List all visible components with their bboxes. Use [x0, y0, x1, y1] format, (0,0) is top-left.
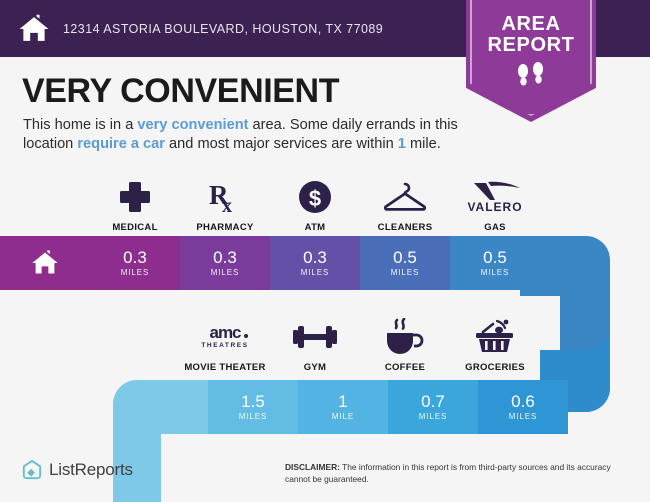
- distance-value: 0.7: [421, 393, 445, 410]
- amenity-label: ATM: [305, 222, 326, 233]
- distance-cell-movie-theater: 1.5 MILES: [208, 380, 298, 434]
- amenity-cleaners: CLEANERS: [360, 176, 450, 233]
- amenity-pharmacy: R x PHARMACY: [180, 176, 270, 233]
- distance-unit: MILES: [301, 268, 330, 277]
- amenity-icon-row-1: MEDICAL R x PHARMACY $ ATM: [90, 176, 540, 233]
- distance-unit: MILES: [481, 268, 510, 277]
- valero-logo-icon: VALERO: [464, 176, 526, 218]
- dollar-circle-icon: $: [297, 176, 333, 218]
- badge-title-line2: REPORT: [466, 35, 596, 56]
- distance-cell-atm: 0.3 MILES: [270, 236, 360, 290]
- distance-value: 0.3: [213, 249, 237, 266]
- home-marker-cell: [0, 236, 90, 290]
- distance-cell-medical: 0.3 MILES: [90, 236, 180, 290]
- distance-unit: MILES: [239, 412, 268, 421]
- svg-text:x: x: [222, 195, 232, 215]
- summary-part-4: mile.: [406, 136, 441, 152]
- disclaimer: DISCLAIMER: The information in this repo…: [285, 462, 637, 485]
- distance-unit: MILE: [332, 412, 354, 421]
- amenity-medical: MEDICAL: [90, 176, 180, 233]
- amenity-label: CLEANERS: [378, 222, 433, 233]
- distance-value: 0.5: [483, 249, 507, 266]
- distance-value: 0.3: [303, 249, 327, 266]
- house-icon: [17, 12, 51, 46]
- summary-text: This home is in a very convenient area. …: [23, 116, 463, 154]
- listreports-logo-text: ListReports: [49, 460, 133, 480]
- svg-text:$: $: [309, 186, 321, 211]
- rx-icon: R x: [207, 176, 243, 218]
- page-title: VERY CONVENIENT: [22, 72, 339, 111]
- summary-part-3: and most major services are within: [165, 136, 398, 152]
- distance-value: 1: [338, 393, 347, 410]
- amenity-gas: VALERO GAS: [450, 176, 540, 233]
- medical-cross-icon: [118, 176, 152, 218]
- summary-highlight-convenience: very convenient: [137, 117, 248, 133]
- badge-title-line1: AREA: [466, 0, 596, 35]
- svg-text:VALERO: VALERO: [467, 200, 522, 214]
- listreports-logo: ListReports: [22, 459, 133, 481]
- summary-highlight-distance: 1: [398, 136, 406, 152]
- distance-bar-row-1: 0.3 MILES 0.3 MILES 0.3 MILES 0.5 MILES …: [0, 236, 540, 290]
- property-address: 12314 ASTORIA BOULEVARD, HOUSTON, TX 770…: [63, 22, 383, 36]
- footprints-icon: [514, 62, 548, 93]
- distance-bar-row-2: 1.5 MILES 1 MILE 0.7 MILES 0.6 MILES: [160, 380, 568, 434]
- distance-unit: MILES: [121, 268, 150, 277]
- distance-unit: MILES: [419, 412, 448, 421]
- bar2-lead-segment: [160, 380, 208, 434]
- distance-unit: MILES: [211, 268, 240, 277]
- amenity-label: MEDICAL: [112, 222, 157, 233]
- distance-cell-cleaners: 0.5 MILES: [360, 236, 450, 290]
- summary-highlight-transport: require a car: [77, 136, 165, 152]
- distance-value: 0.5: [393, 249, 417, 266]
- distance-cell-coffee: 0.7 MILES: [388, 380, 478, 434]
- distance-value: 0.3: [123, 249, 147, 266]
- hanger-icon: [382, 176, 428, 218]
- summary-part-1: This home is in a: [23, 117, 137, 133]
- distance-cell-pharmacy: 0.3 MILES: [180, 236, 270, 290]
- distance-value: 0.6: [511, 393, 535, 410]
- distance-cell-gym: 1 MILE: [298, 380, 388, 434]
- area-report-badge: AREA REPORT: [466, 0, 596, 122]
- disclaimer-label: DISCLAIMER:: [285, 462, 340, 472]
- house-icon: [30, 248, 60, 278]
- distance-cell-gas: 0.5 MILES: [450, 236, 540, 290]
- amenity-label: PHARMACY: [196, 222, 253, 233]
- distance-value: 1.5: [241, 393, 265, 410]
- listreports-house-tag-icon: [22, 459, 42, 481]
- distance-unit: MILES: [391, 268, 420, 277]
- amenity-atm: $ ATM: [270, 176, 360, 233]
- amenity-label: GAS: [484, 222, 506, 233]
- distance-cell-groceries: 0.6 MILES: [478, 380, 568, 434]
- area-report-infographic: 12314 ASTORIA BOULEVARD, HOUSTON, TX 770…: [0, 0, 650, 502]
- distance-unit: MILES: [509, 412, 538, 421]
